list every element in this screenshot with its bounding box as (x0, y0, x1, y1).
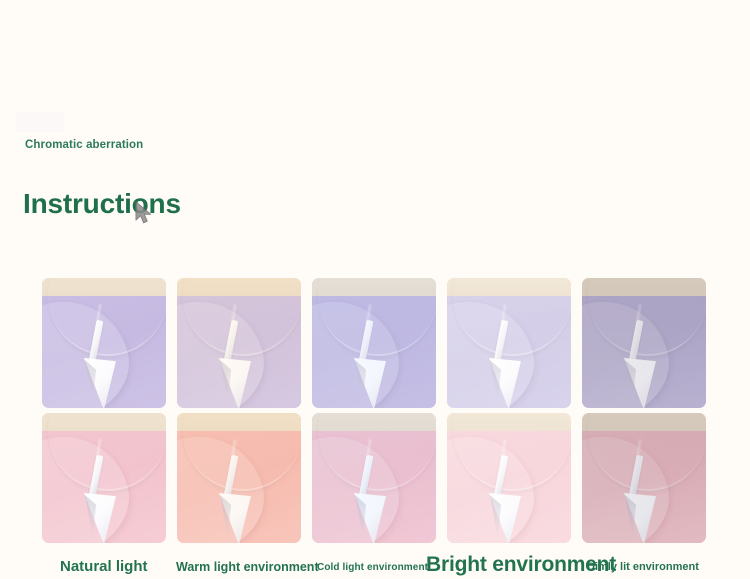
garment-body (582, 296, 706, 408)
garment-body (177, 431, 301, 543)
caption-row: Natural light Warm light environment Col… (0, 552, 750, 579)
sample-image-dim-pink[interactable] (582, 413, 706, 543)
sample-image-warm-pink[interactable] (177, 413, 301, 543)
lighting-comparison-gallery (42, 278, 708, 543)
sample-image-dim-lavender[interactable] (582, 278, 706, 408)
sample-image-cold-lavender[interactable] (312, 278, 436, 408)
garment-body (582, 431, 706, 543)
garment-body (177, 296, 301, 408)
garment-body (312, 296, 436, 408)
garment-body (42, 296, 166, 408)
page-title: Instructions (23, 188, 181, 220)
garment-body (447, 296, 571, 408)
sample-image-natural-pink[interactable] (42, 413, 166, 543)
caption-natural-light: Natural light (60, 559, 148, 574)
decorative-plate (16, 112, 64, 132)
sample-image-warm-lavender[interactable] (177, 278, 301, 408)
garment-body (42, 431, 166, 543)
sample-image-natural-lavender[interactable] (42, 278, 166, 408)
eyebrow-heading: Chromatic aberration (25, 139, 143, 151)
caption-cold-light: Cold light environment (317, 563, 428, 573)
sample-image-bright-lavender[interactable] (447, 278, 571, 408)
caption-dim-light: Dimly lit environment (587, 562, 699, 573)
caption-warm-light: Warm light environment (176, 561, 319, 574)
sample-image-bright-pink[interactable] (447, 413, 571, 543)
sample-image-cold-pink[interactable] (312, 413, 436, 543)
page-root: { "page": { "background_color": "#fffcf8… (0, 0, 750, 579)
garment-body (312, 431, 436, 543)
garment-body (447, 431, 571, 543)
